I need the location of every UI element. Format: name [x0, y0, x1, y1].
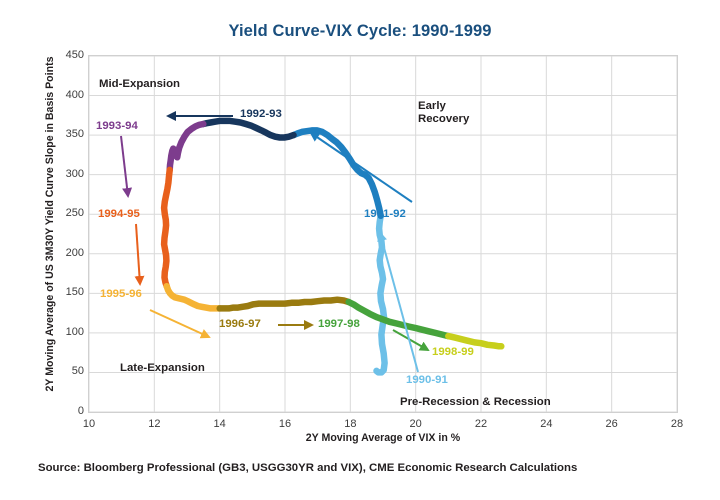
data-series-1998-99 — [448, 336, 501, 346]
y-tick-label: 150 — [42, 286, 84, 298]
data-series-1995-96 — [167, 286, 220, 308]
annotation-pre-recession-recession: Pre-Recession & Recession — [400, 396, 551, 409]
x-tick-label: 20 — [396, 418, 436, 430]
y-axis-ticks: 050100150200250300350400450 — [40, 55, 84, 413]
plot-area — [88, 55, 678, 413]
page-title: Yield Curve-VIX Cycle: 1990-1999 — [0, 22, 720, 41]
y-tick-label: 100 — [42, 326, 84, 338]
y-tick-label: 400 — [42, 89, 84, 101]
annotation-label-1994-95: 1994-95 — [98, 208, 140, 221]
data-series-1993-94 — [170, 124, 204, 170]
data-series-1997-98 — [349, 302, 449, 336]
x-tick-label: 18 — [330, 418, 370, 430]
source-note: Source: Bloomberg Professional (GB3, USG… — [38, 462, 577, 474]
y-tick-label: 0 — [42, 405, 84, 417]
x-tick-label: 10 — [69, 418, 109, 430]
x-tick-label: 24 — [526, 418, 566, 430]
x-tick-label: 26 — [592, 418, 632, 430]
y-tick-label: 50 — [42, 365, 84, 377]
annotation-label-1997-98: 1997-98 — [318, 318, 360, 331]
data-series-1990-91 — [377, 216, 385, 373]
annotation-label-1993-94: 1993-94 — [96, 120, 138, 133]
chart-canvas: Yield Curve-VIX Cycle: 1990-1999 2Y Movi… — [0, 0, 720, 500]
data-series-1991-92 — [294, 130, 381, 215]
y-tick-label: 200 — [42, 247, 84, 259]
y-tick-label: 300 — [42, 168, 84, 180]
annotation-label-1991-92: 1991-92 — [364, 208, 406, 221]
x-tick-label: 14 — [200, 418, 240, 430]
annotation-label-1996-97: 1996-97 — [219, 318, 261, 331]
y-tick-label: 250 — [42, 207, 84, 219]
data-series-1994-95 — [164, 170, 170, 286]
annotation-label-1998-99: 1998-99 — [432, 346, 474, 359]
annotation-label-1992-93: 1992-93 — [240, 108, 282, 121]
annotation-mid-expansion: Mid-Expansion — [99, 78, 180, 91]
x-tick-label: 12 — [134, 418, 174, 430]
annotation-label-1990-91: 1990-91 — [406, 374, 448, 387]
y-tick-label: 350 — [42, 128, 84, 140]
x-tick-label: 16 — [265, 418, 305, 430]
annotation-early-recovery: Early Recovery — [418, 100, 469, 126]
x-tick-label: 22 — [461, 418, 501, 430]
x-axis-ticks: 10121416182022242628 — [88, 418, 678, 436]
x-tick-label: 28 — [657, 418, 697, 430]
data-series-1996-97 — [220, 300, 349, 309]
annotation-late-expansion: Late-Expansion — [120, 362, 205, 375]
y-tick-label: 450 — [42, 49, 84, 61]
annotation-label-1995-96: 1995-96 — [100, 288, 142, 301]
